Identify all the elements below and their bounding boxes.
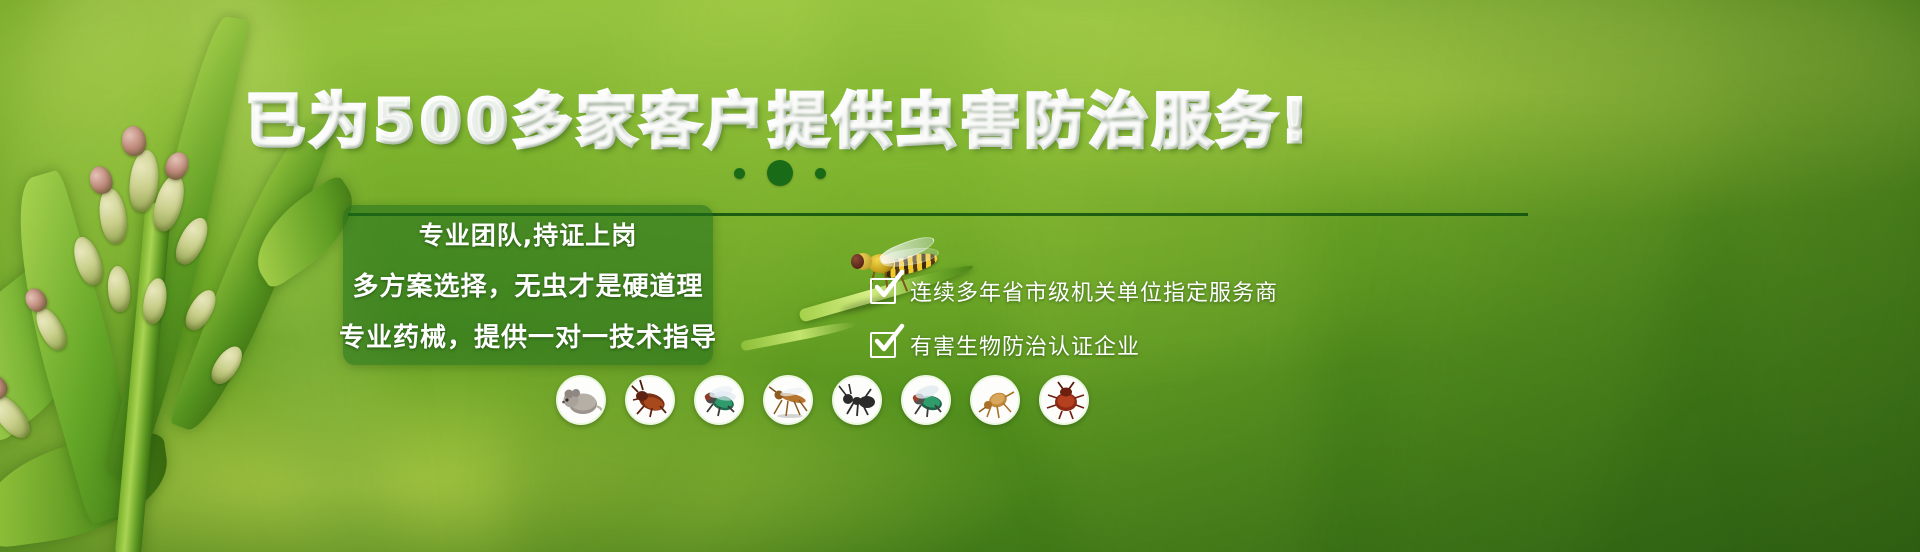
fly-icon[interactable] — [694, 375, 744, 425]
checklist-item: 连续多年省市级机关单位指定服务商 — [870, 275, 1278, 307]
feature-line-2: 多方案选择，无虫才是硬道理 — [352, 266, 703, 303]
ant-icon[interactable] — [832, 375, 882, 425]
cockroach-icon[interactable] — [625, 375, 675, 425]
checklist-item-label: 连续多年省市级机关单位指定服务商 — [910, 275, 1278, 307]
mouse-icon[interactable] — [556, 375, 606, 425]
dot-large-center — [767, 160, 793, 186]
blowfly-icon[interactable] — [901, 375, 951, 425]
checkbox-checked-icon — [870, 278, 896, 304]
checklist-item-label: 有害生物防治认证企业 — [910, 329, 1140, 361]
dot-small-right — [815, 168, 826, 179]
banner-headline-text: 已为500多家客户提供虫害防治服务! — [246, 87, 1314, 155]
promo-banner: 已为500多家客户提供虫害防治服务! 专业团队,持证上岗 多方案选择，无虫才是硬… — [0, 0, 1920, 552]
flea-icon[interactable] — [970, 375, 1020, 425]
checklist-item: 有害生物防治认证企业 — [870, 329, 1278, 361]
feature-highlight-box: 专业团队,持证上岗 多方案选择，无虫才是硬道理 专业药械，提供一对一技术指导 — [343, 205, 713, 365]
feature-line-1: 专业团队,持证上岗 — [419, 216, 638, 252]
feature-line-3: 专业药械，提供一对一技术指导 — [339, 317, 717, 354]
pest-icon-row — [556, 375, 1089, 425]
bedbug-icon[interactable] — [1039, 375, 1089, 425]
dot-small-left — [734, 168, 745, 179]
banner-headline: 已为500多家客户提供虫害防治服务! — [0, 74, 1560, 158]
mosquito-icon[interactable] — [763, 375, 813, 425]
checkbox-checked-icon — [870, 332, 896, 358]
decorative-dots — [0, 160, 1560, 186]
credentials-checklist: 连续多年省市级机关单位指定服务商 有害生物防治认证企业 — [870, 275, 1278, 383]
